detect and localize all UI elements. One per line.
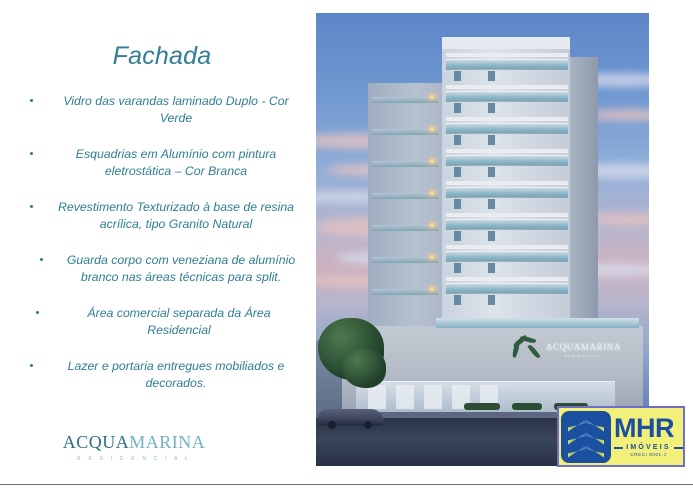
facade-lamp-icon	[430, 287, 434, 291]
side-balcony	[372, 225, 438, 231]
mhr-subtitle-row: IMÓVEIS	[614, 444, 683, 451]
list-item-label: Guarda corpo com veneziana de alumínio b…	[67, 253, 295, 284]
acquamarina-subtitle: R E S I D E N C I A L	[54, 456, 214, 462]
text-column: Fachada Vidro das varandas laminado Dupl…	[14, 18, 310, 466]
floor-balcony	[446, 283, 568, 293]
mhr-text-block: MHR IMÓVEIS CRECI 8001-J	[611, 415, 683, 458]
building-signage: ACQUAMARINA RESIDENCIAL	[546, 342, 621, 358]
window	[454, 295, 461, 305]
chevron-up-icon	[568, 433, 604, 445]
bullet-dot-icon	[30, 364, 33, 367]
parked-car	[318, 409, 384, 426]
mhr-title: MHR	[614, 415, 683, 442]
list-item-label: Lazer e portaria entregues mobiliados e …	[68, 359, 285, 390]
side-balcony	[372, 257, 438, 263]
window	[454, 71, 461, 81]
storefront-pane	[396, 385, 414, 409]
hedge	[512, 403, 542, 410]
floor-slab	[446, 245, 568, 249]
window	[488, 71, 495, 81]
window	[488, 263, 495, 273]
bullet-dot-icon	[30, 205, 33, 208]
acquamarina-wordmark: ACQUAMARINA	[54, 432, 214, 453]
facade-lamp-icon	[430, 127, 434, 131]
list-item-label: Revestimento Texturizado à base de resin…	[58, 200, 294, 231]
chevron-up-icon	[568, 420, 604, 432]
floor-balcony	[446, 123, 568, 133]
floor-balcony	[446, 155, 568, 165]
building-sign-name: ACQUAMARINA	[546, 342, 621, 352]
mhr-chevron-logo-icon	[561, 411, 611, 463]
floor-slab	[446, 213, 568, 217]
side-balcony	[372, 289, 438, 295]
window	[454, 199, 461, 209]
acquamarina-wordmark-part1: ACQUA	[63, 432, 130, 452]
floor-slab	[446, 53, 568, 57]
window	[488, 103, 495, 113]
mhr-creci-number: CRECI 8001-J	[614, 453, 683, 458]
acquamarina-wordmark-part2: MARINA	[129, 432, 205, 452]
page-title: Fachada	[14, 42, 310, 71]
floor-balcony	[446, 251, 568, 261]
side-balcony	[372, 161, 438, 167]
floor-balcony	[446, 187, 568, 197]
list-item-label: Esquadrias em Alumínio com pintura eletr…	[76, 147, 277, 178]
floor-slab	[446, 277, 568, 281]
window	[454, 263, 461, 273]
window	[488, 167, 495, 177]
rule-right	[674, 447, 683, 449]
facade-photo: ACQUAMARINA RESIDENCIAL	[316, 13, 649, 466]
window	[488, 135, 495, 145]
tree	[342, 348, 386, 388]
list-item: Área comercial separada da Área Residenc…	[14, 305, 310, 338]
bullet-dot-icon	[30, 152, 33, 155]
storefront-pane	[368, 385, 386, 409]
side-balcony	[372, 129, 438, 135]
floor-slab	[446, 181, 568, 185]
facade-lamp-icon	[430, 159, 434, 163]
list-item: Esquadrias em Alumínio com pintura eletr…	[14, 146, 310, 179]
floor-balcony	[446, 219, 568, 229]
window	[454, 135, 461, 145]
window	[454, 167, 461, 177]
mhr-badge-content: MHR IMÓVEIS CRECI 8001-J	[559, 408, 683, 465]
bullet-dot-icon	[30, 99, 33, 102]
floor-slab	[446, 85, 568, 89]
floor-balcony	[446, 91, 568, 101]
bottom-divider	[0, 484, 693, 485]
bullet-dot-icon	[40, 258, 43, 261]
list-item-label: Vidro das varandas laminado Duplo - Cor …	[63, 94, 288, 125]
hedge	[464, 403, 500, 410]
facade-lamp-icon	[430, 255, 434, 259]
list-item-label: Área comercial separada da Área Residenc…	[87, 306, 270, 337]
window	[488, 295, 495, 305]
acquamarina-logo: ACQUAMARINA R E S I D E N C I A L	[54, 432, 214, 462]
building-sign-subtitle: RESIDENCIAL	[546, 354, 621, 358]
window	[454, 231, 461, 241]
side-balcony	[372, 193, 438, 199]
podium-roof-railing	[436, 318, 639, 328]
storefront-pane	[424, 385, 442, 409]
rule-left	[614, 447, 623, 449]
slide-canvas: Fachada Vidro das varandas laminado Dupl…	[0, 0, 693, 484]
floor-slab	[446, 149, 568, 153]
window	[488, 199, 495, 209]
side-balcony	[372, 97, 438, 103]
feature-bullet-list: Vidro das varandas laminado Duplo - Cor …	[14, 93, 310, 391]
list-item: Guarda corpo com veneziana de alumínio b…	[14, 252, 310, 285]
tower-roof	[442, 37, 570, 49]
window	[454, 103, 461, 113]
list-item: Lazer e portaria entregues mobiliados e …	[14, 358, 310, 391]
window	[488, 231, 495, 241]
facade-lamp-icon	[430, 95, 434, 99]
list-item: Revestimento Texturizado à base de resin…	[14, 199, 310, 232]
bullet-dot-icon	[36, 311, 39, 314]
facade-lamp-icon	[430, 223, 434, 227]
mhr-subtitle: IMÓVEIS	[623, 444, 674, 451]
list-item: Vidro das varandas laminado Duplo - Cor …	[14, 93, 310, 126]
facade-lamp-icon	[430, 191, 434, 195]
floor-slab	[446, 117, 568, 121]
floor-balcony	[446, 59, 568, 69]
chevron-up-icon	[568, 446, 604, 458]
mhr-watermark-badge: MHR IMÓVEIS CRECI 8001-J	[557, 406, 685, 467]
